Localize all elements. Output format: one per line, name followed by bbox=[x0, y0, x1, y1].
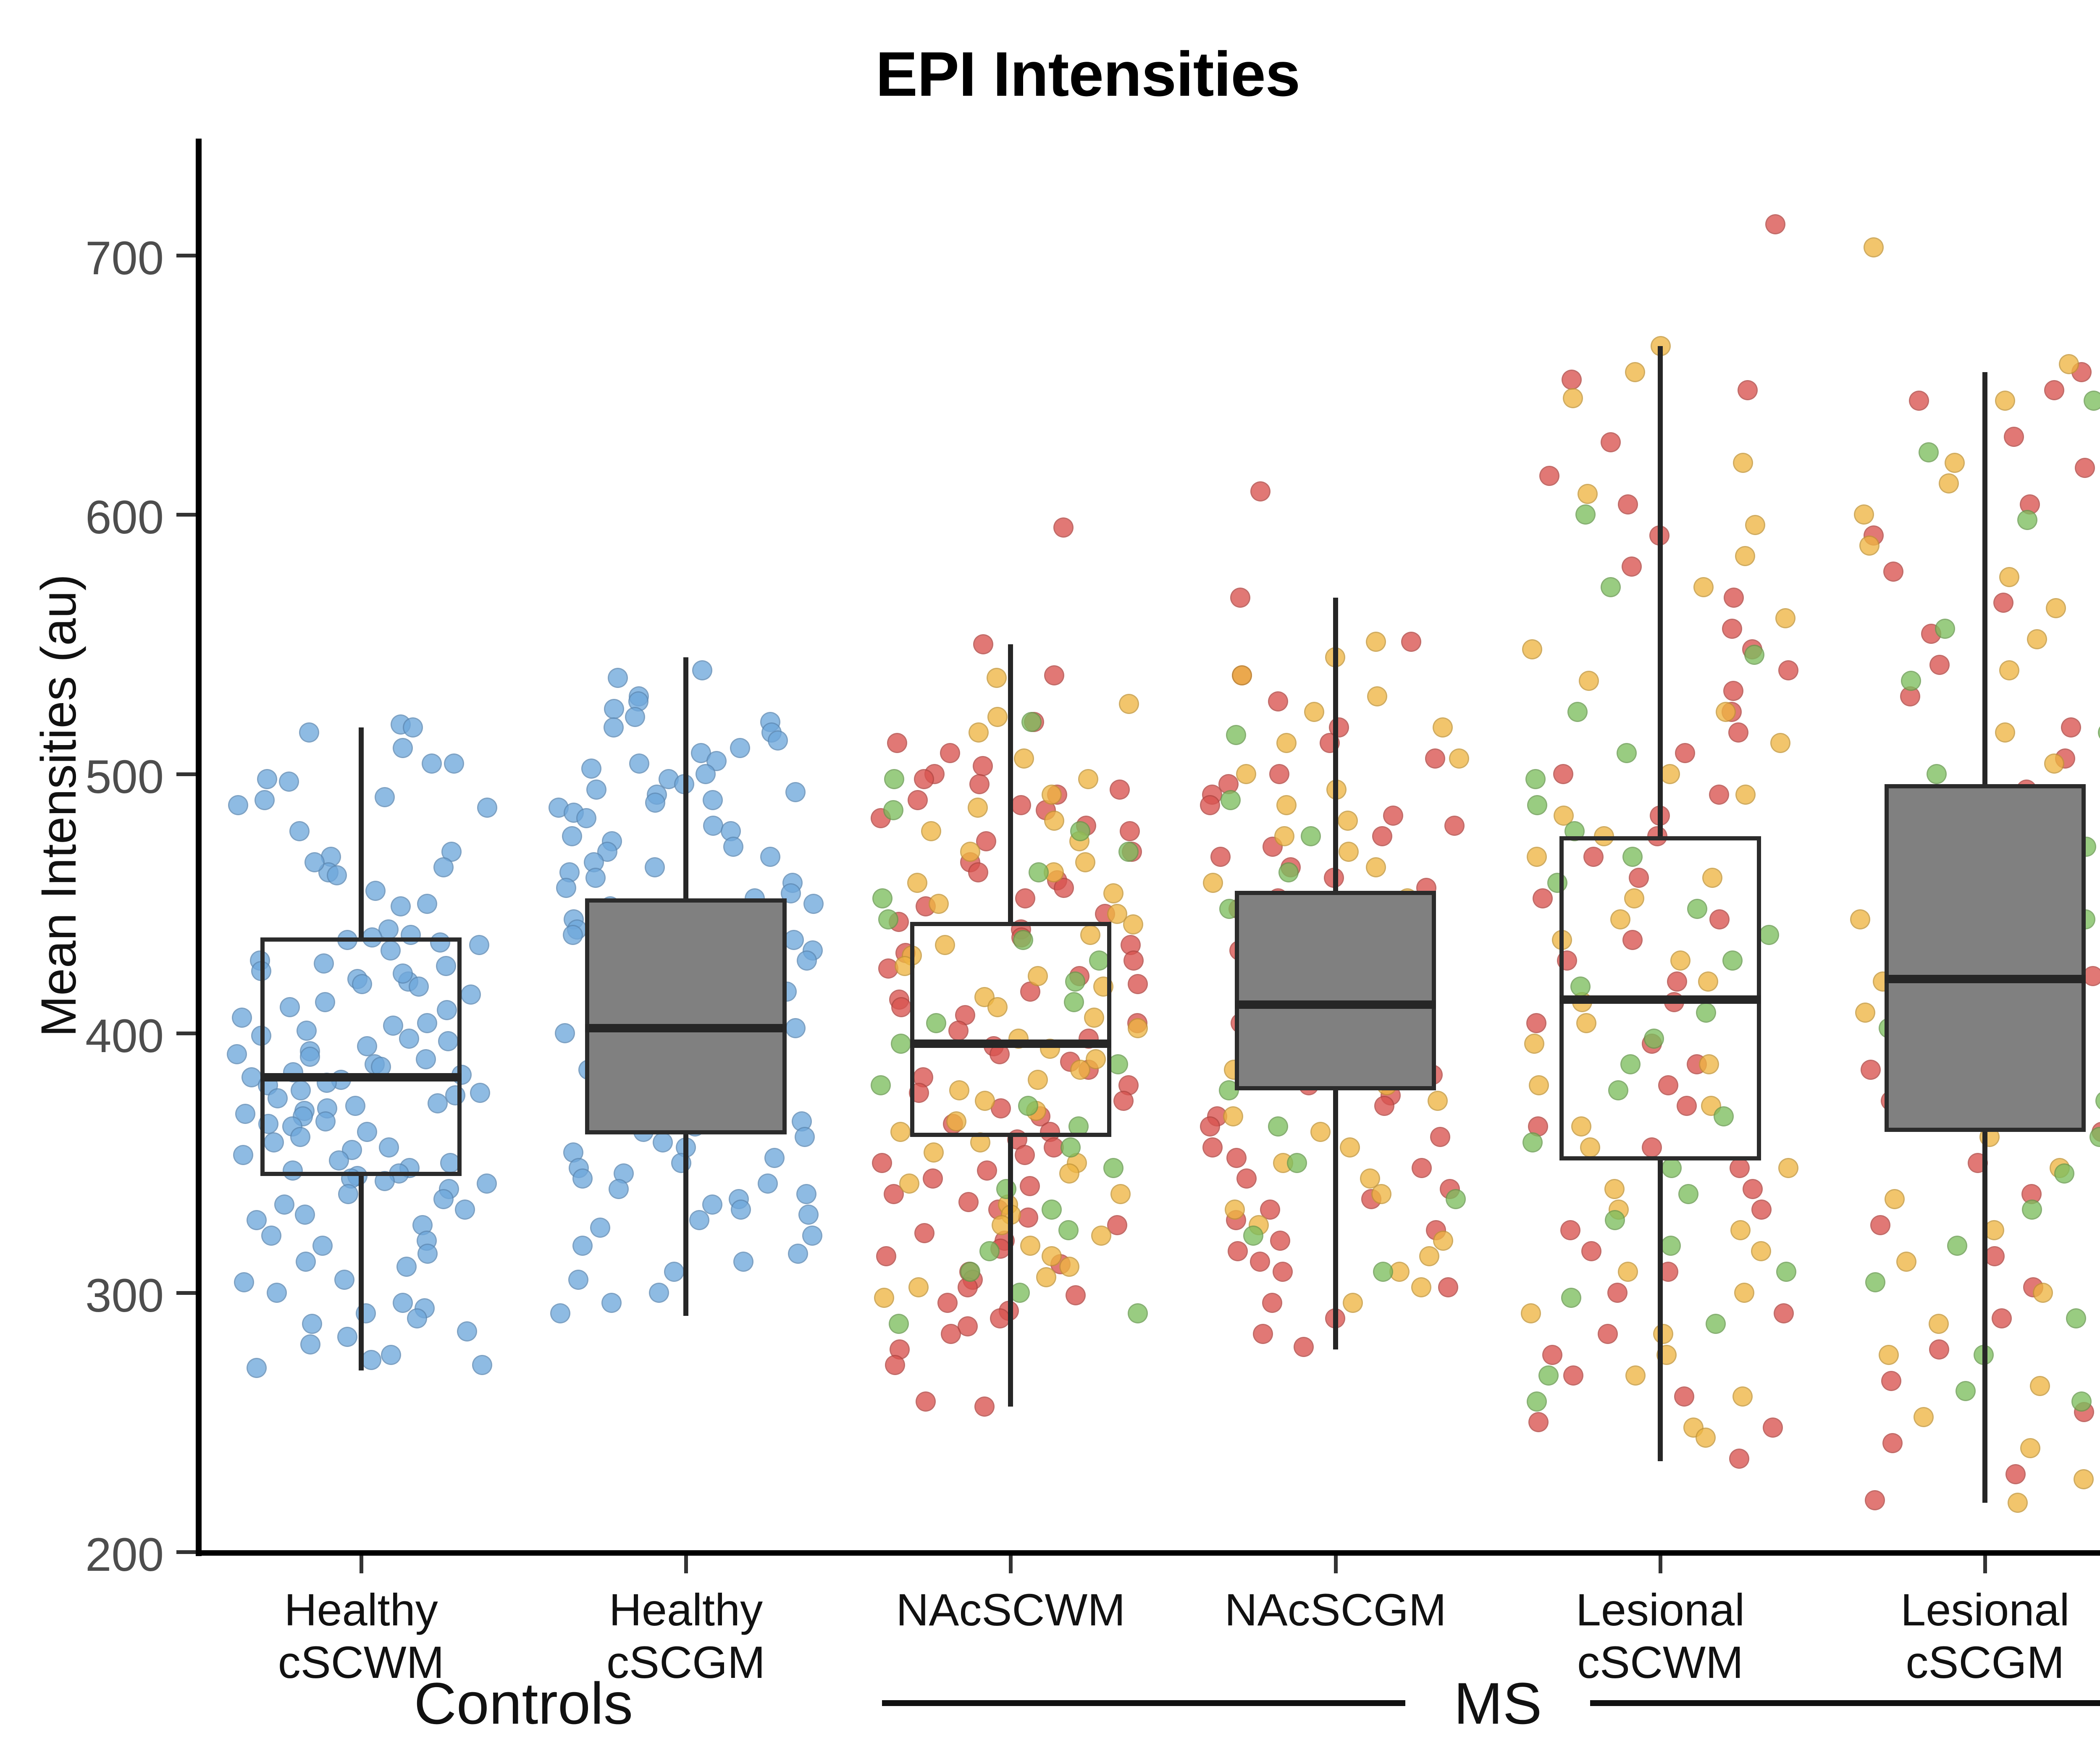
x-tick-mark bbox=[1009, 1556, 1013, 1573]
data-point bbox=[261, 1226, 281, 1246]
median-line bbox=[260, 1073, 462, 1081]
x-tick-mark bbox=[360, 1556, 363, 1573]
chart-title: EPI Intensities bbox=[0, 38, 2100, 110]
x-tick-mark bbox=[684, 1556, 688, 1573]
data-point bbox=[874, 1288, 894, 1308]
data-point bbox=[1850, 909, 1870, 929]
data-point bbox=[1774, 1303, 1794, 1323]
data-point bbox=[1879, 1345, 1899, 1365]
median-line bbox=[1235, 1000, 1436, 1009]
data-point bbox=[417, 1244, 438, 1264]
data-point bbox=[1374, 1096, 1394, 1116]
data-point bbox=[1304, 702, 1324, 722]
data-point bbox=[1765, 214, 1785, 234]
data-point bbox=[788, 1244, 808, 1264]
whisker-lower bbox=[1982, 1132, 1987, 1503]
data-point bbox=[1373, 1262, 1393, 1282]
data-point bbox=[1042, 1246, 1062, 1266]
data-point bbox=[2061, 717, 2081, 738]
data-point bbox=[563, 925, 583, 945]
data-point bbox=[1226, 1148, 1247, 1168]
data-point bbox=[1865, 1272, 1885, 1292]
data-point bbox=[299, 722, 319, 743]
data-point bbox=[1776, 1262, 1796, 1282]
data-point bbox=[645, 793, 665, 813]
data-point bbox=[1995, 722, 2015, 743]
data-point bbox=[2005, 1464, 2026, 1484]
data-point bbox=[586, 780, 606, 800]
whisker-upper bbox=[1333, 598, 1338, 891]
data-point bbox=[1581, 1241, 1601, 1261]
data-point bbox=[1901, 671, 1921, 691]
data-point bbox=[1401, 632, 1421, 652]
data-point bbox=[1778, 1158, 1798, 1178]
data-point bbox=[568, 1270, 588, 1290]
data-point bbox=[1914, 1407, 1934, 1427]
data-point bbox=[1525, 769, 1546, 789]
data-point bbox=[1059, 1163, 1079, 1184]
data-point bbox=[289, 821, 310, 841]
data-point bbox=[1020, 1176, 1040, 1196]
data-point bbox=[1118, 842, 1139, 862]
data-point bbox=[1113, 1091, 1134, 1111]
data-point bbox=[1607, 1283, 1627, 1303]
data-point bbox=[1617, 743, 1637, 763]
data-point bbox=[1042, 785, 1062, 805]
data-point bbox=[1744, 645, 1764, 665]
data-point bbox=[1956, 1381, 1976, 1401]
median-line bbox=[1885, 975, 2086, 983]
data-point bbox=[968, 798, 988, 818]
data-point bbox=[1366, 857, 1386, 877]
data-point bbox=[1855, 1003, 1875, 1023]
x-tick-mark bbox=[1983, 1556, 1987, 1573]
data-point bbox=[1885, 1189, 1905, 1209]
data-point bbox=[2074, 1469, 2094, 1489]
data-point bbox=[872, 888, 892, 908]
data-point bbox=[585, 868, 606, 888]
data-point bbox=[477, 798, 497, 818]
data-point bbox=[556, 878, 576, 898]
data-point bbox=[941, 1324, 961, 1344]
data-point bbox=[1745, 515, 1765, 535]
data-point bbox=[1066, 1285, 1086, 1305]
strip-rule-left bbox=[882, 1700, 1406, 1706]
data-point bbox=[908, 790, 928, 810]
data-point bbox=[653, 1132, 673, 1152]
data-point bbox=[403, 717, 423, 738]
data-point bbox=[1706, 1314, 1726, 1334]
data-point bbox=[764, 1148, 785, 1168]
data-point bbox=[1763, 1417, 1783, 1438]
data-point bbox=[1693, 577, 1714, 597]
data-point bbox=[629, 753, 649, 774]
data-point bbox=[768, 730, 788, 751]
data-point bbox=[1123, 950, 1144, 971]
data-point bbox=[555, 1023, 575, 1043]
data-point bbox=[1310, 1122, 1331, 1142]
data-point bbox=[625, 707, 645, 727]
data-point bbox=[1091, 1226, 1111, 1246]
data-point bbox=[1625, 362, 1645, 382]
x-tick-label: Lesional cSCGM bbox=[1823, 1583, 2100, 1688]
data-point bbox=[973, 756, 993, 776]
y-tick-mark bbox=[176, 254, 196, 257]
data-point bbox=[871, 1075, 891, 1095]
box-cscgm bbox=[1235, 891, 1436, 1090]
data-point bbox=[1538, 1365, 1559, 1386]
data-point bbox=[304, 852, 325, 872]
data-point bbox=[1896, 1252, 1916, 1272]
data-point bbox=[1226, 725, 1246, 745]
data-point bbox=[1250, 1252, 1270, 1272]
data-point bbox=[312, 1236, 333, 1256]
data-point bbox=[974, 1396, 995, 1417]
data-point bbox=[1601, 432, 1621, 452]
data-point bbox=[1527, 795, 1547, 815]
data-point bbox=[1539, 466, 1559, 486]
data-point bbox=[1929, 1314, 1949, 1334]
data-point bbox=[1939, 473, 1959, 493]
y-tick-mark bbox=[176, 1032, 196, 1035]
data-point bbox=[1521, 1303, 1541, 1323]
whisker-lower bbox=[683, 1134, 688, 1316]
data-point bbox=[1419, 1246, 1439, 1266]
data-point bbox=[257, 769, 277, 789]
data-point bbox=[1128, 1018, 1148, 1038]
y-tick-label: 700 bbox=[25, 231, 164, 285]
data-point bbox=[1243, 1226, 1263, 1246]
data-point bbox=[649, 1283, 669, 1303]
data-point bbox=[1273, 1262, 1293, 1282]
data-point bbox=[1262, 1293, 1282, 1313]
data-point bbox=[1236, 764, 1256, 784]
data-point bbox=[1553, 764, 1573, 784]
data-point bbox=[1343, 1293, 1363, 1313]
chart-root: EPI Intensities Mean Intensities (au) 70… bbox=[0, 0, 2100, 1764]
data-point bbox=[883, 800, 903, 820]
data-point bbox=[1228, 1241, 1248, 1261]
data-point bbox=[1110, 1184, 1131, 1204]
data-point bbox=[1743, 1179, 1763, 1199]
x-tick-label: NAcSCWM bbox=[848, 1583, 1173, 1636]
data-point bbox=[1287, 1153, 1307, 1173]
data-point bbox=[1732, 1386, 1753, 1407]
whisker-upper bbox=[1658, 346, 1663, 836]
data-point bbox=[1529, 1075, 1549, 1095]
data-point bbox=[1449, 748, 1469, 769]
data-point bbox=[1340, 1137, 1360, 1158]
data-point bbox=[2084, 391, 2100, 411]
data-point bbox=[1301, 826, 1321, 846]
data-point bbox=[1060, 1137, 1081, 1158]
data-point bbox=[1861, 1060, 1881, 1080]
data-point bbox=[1366, 632, 1386, 652]
data-point bbox=[1723, 681, 1743, 701]
strip-label-controls: Controls bbox=[199, 1669, 848, 1738]
data-point bbox=[407, 1308, 427, 1328]
data-point bbox=[1524, 1034, 1544, 1054]
y-tick-mark bbox=[176, 1291, 196, 1295]
x-axis-line bbox=[196, 1550, 2100, 1556]
data-point bbox=[1881, 1371, 1901, 1391]
data-point bbox=[327, 865, 347, 885]
data-point bbox=[692, 660, 712, 680]
data-point bbox=[444, 753, 464, 774]
data-point bbox=[1751, 1241, 1771, 1261]
data-point bbox=[979, 1241, 1000, 1261]
data-point bbox=[1075, 852, 1095, 872]
data-point bbox=[1070, 821, 1090, 841]
data-point bbox=[1625, 1365, 1646, 1386]
data-point bbox=[921, 821, 941, 841]
box-cscgm bbox=[1885, 784, 2086, 1131]
data-point bbox=[274, 1194, 294, 1215]
data-point bbox=[703, 790, 723, 810]
y-tick-mark bbox=[176, 513, 196, 517]
data-point bbox=[987, 668, 1007, 688]
data-point bbox=[1036, 1267, 1056, 1287]
data-point bbox=[255, 790, 275, 810]
data-point bbox=[1367, 686, 1387, 706]
data-point bbox=[1123, 914, 1143, 934]
data-point bbox=[1865, 1490, 1885, 1510]
data-point bbox=[1042, 1200, 1062, 1220]
data-point bbox=[969, 774, 990, 794]
data-point bbox=[1733, 453, 1753, 473]
data-point bbox=[469, 935, 489, 955]
data-point bbox=[2054, 1163, 2074, 1184]
whisker-upper bbox=[1008, 644, 1013, 922]
data-point bbox=[1618, 494, 1638, 514]
data-point bbox=[1425, 748, 1445, 769]
data-point bbox=[1883, 562, 1903, 582]
data-point bbox=[996, 1179, 1016, 1199]
y-tick-label: 500 bbox=[25, 750, 164, 804]
box-cscgm bbox=[585, 898, 786, 1134]
data-point bbox=[1770, 733, 1790, 753]
data-point bbox=[1522, 1132, 1543, 1152]
data-point bbox=[1015, 888, 1035, 908]
data-point bbox=[803, 894, 824, 914]
data-point bbox=[233, 1145, 253, 1165]
data-point bbox=[733, 1252, 753, 1272]
data-point bbox=[969, 722, 989, 743]
y-tick-mark bbox=[176, 1550, 196, 1554]
data-point bbox=[785, 1018, 806, 1038]
data-point bbox=[1778, 660, 1798, 680]
median-line bbox=[1559, 995, 1761, 1004]
data-point bbox=[2044, 753, 2064, 774]
data-point bbox=[1383, 806, 1403, 826]
data-point bbox=[1433, 1231, 1453, 1251]
data-point bbox=[228, 795, 248, 815]
data-point bbox=[1578, 484, 1598, 504]
data-point bbox=[1268, 691, 1288, 711]
data-point bbox=[1729, 1449, 1749, 1469]
data-point bbox=[887, 733, 907, 753]
data-point bbox=[987, 707, 1008, 727]
median-line bbox=[585, 1024, 786, 1032]
data-point bbox=[1223, 1106, 1243, 1126]
y-axis-label: Mean Intensities (au) bbox=[30, 260, 87, 1352]
data-point bbox=[796, 1184, 816, 1204]
data-point bbox=[422, 753, 442, 774]
whisker-lower bbox=[1333, 1090, 1338, 1349]
whisker-lower bbox=[359, 1176, 364, 1370]
data-point bbox=[334, 1270, 354, 1290]
data-point bbox=[576, 808, 596, 828]
data-point bbox=[232, 1008, 252, 1028]
data-point bbox=[562, 826, 582, 846]
data-point bbox=[235, 1104, 255, 1124]
data-point bbox=[1527, 1391, 1547, 1412]
x-tick-label: NAcSCGM bbox=[1173, 1583, 1498, 1636]
data-point bbox=[878, 909, 898, 929]
data-point bbox=[295, 1205, 315, 1225]
data-point bbox=[1021, 712, 1042, 732]
strip-label-ms: MS bbox=[1414, 1669, 1582, 1738]
data-point bbox=[234, 1272, 254, 1292]
data-point bbox=[689, 1210, 709, 1230]
y-tick-label: 300 bbox=[25, 1268, 164, 1323]
data-point bbox=[1528, 1412, 1549, 1432]
data-point bbox=[2008, 1493, 2028, 1513]
data-point bbox=[916, 1391, 936, 1412]
data-point bbox=[802, 1226, 822, 1246]
data-point bbox=[890, 1122, 911, 1142]
data-point bbox=[1110, 780, 1130, 800]
data-point bbox=[1579, 671, 1599, 691]
data-point bbox=[609, 1179, 629, 1199]
data-point bbox=[730, 738, 750, 758]
data-point bbox=[1412, 1158, 1432, 1178]
data-point bbox=[296, 1252, 316, 1272]
data-point bbox=[889, 1314, 909, 1334]
data-point bbox=[1567, 702, 1588, 722]
data-point bbox=[1044, 665, 1064, 685]
data-point bbox=[1236, 1168, 1257, 1189]
data-point bbox=[1604, 1179, 1625, 1199]
data-point bbox=[1018, 1207, 1038, 1228]
data-point bbox=[461, 984, 481, 1005]
data-point bbox=[1724, 588, 1744, 608]
box-cscwm bbox=[260, 937, 462, 1176]
data-point bbox=[1225, 1200, 1245, 1220]
data-point bbox=[1735, 546, 1755, 566]
data-point bbox=[1678, 1184, 1698, 1204]
data-point bbox=[227, 1044, 247, 1064]
data-point bbox=[247, 1210, 267, 1230]
data-point bbox=[702, 1194, 722, 1215]
data-point bbox=[2017, 510, 2037, 530]
data-point bbox=[581, 759, 601, 779]
data-point bbox=[1433, 717, 1453, 738]
data-point bbox=[1561, 1288, 1581, 1308]
x-tick-mark bbox=[1659, 1556, 1662, 1573]
data-point bbox=[375, 787, 395, 807]
data-point bbox=[1992, 1308, 2012, 1328]
data-point bbox=[1527, 847, 1547, 867]
data-point bbox=[604, 717, 624, 738]
data-point bbox=[1909, 391, 1929, 411]
data-point bbox=[1103, 1158, 1123, 1178]
data-point bbox=[1128, 974, 1148, 994]
data-point bbox=[1935, 619, 1955, 639]
data-point bbox=[1059, 1257, 1079, 1277]
data-point bbox=[1274, 826, 1294, 846]
data-point bbox=[960, 1262, 980, 1282]
data-point bbox=[393, 738, 413, 758]
data-point bbox=[1011, 795, 1031, 815]
data-point bbox=[572, 1168, 593, 1189]
data-point bbox=[1230, 588, 1250, 608]
data-point bbox=[365, 881, 386, 901]
data-point bbox=[1029, 862, 1049, 882]
data-point bbox=[279, 772, 299, 792]
data-point bbox=[1882, 1433, 1903, 1453]
data-point bbox=[302, 1314, 322, 1334]
data-point bbox=[396, 1257, 417, 1277]
data-point bbox=[1203, 873, 1223, 893]
data-point bbox=[2020, 1438, 2040, 1458]
data-point bbox=[391, 896, 411, 916]
whisker-upper bbox=[1982, 372, 1987, 785]
data-point bbox=[1618, 1262, 1638, 1282]
data-point bbox=[1563, 388, 1583, 408]
median-line bbox=[910, 1039, 1111, 1048]
data-point bbox=[477, 1173, 497, 1194]
data-point bbox=[731, 1200, 751, 1220]
data-point bbox=[1276, 733, 1297, 753]
data-point bbox=[1446, 1189, 1466, 1209]
whisker-upper bbox=[359, 727, 364, 937]
data-point bbox=[1444, 816, 1465, 836]
data-point bbox=[1945, 453, 1965, 473]
data-point bbox=[247, 1358, 267, 1378]
data-point bbox=[1044, 811, 1064, 831]
data-point bbox=[1870, 1215, 1890, 1235]
data-point bbox=[1430, 1127, 1450, 1147]
data-point bbox=[1269, 764, 1289, 784]
data-point bbox=[1202, 1137, 1223, 1158]
data-point bbox=[1200, 795, 1220, 815]
plot-panel bbox=[199, 139, 2100, 1552]
data-point bbox=[1601, 577, 1621, 597]
whisker-lower bbox=[1658, 1160, 1663, 1461]
data-point bbox=[1738, 380, 1758, 400]
data-point bbox=[417, 894, 437, 914]
data-point bbox=[1250, 481, 1270, 501]
data-point bbox=[337, 1327, 357, 1347]
y-tick-label: 400 bbox=[25, 1009, 164, 1063]
box-cscwm bbox=[910, 922, 1111, 1137]
x-tick-mark bbox=[1334, 1556, 1338, 1573]
data-point bbox=[1438, 1277, 1458, 1297]
data-point bbox=[1674, 1386, 1694, 1407]
data-point bbox=[872, 1153, 892, 1173]
data-point bbox=[2004, 427, 2024, 447]
whisker-lower bbox=[1008, 1137, 1013, 1407]
data-point bbox=[1533, 888, 1553, 908]
data-point bbox=[2027, 629, 2047, 649]
data-point bbox=[908, 1277, 929, 1297]
data-point bbox=[381, 1345, 401, 1365]
data-point bbox=[923, 1168, 943, 1189]
data-point bbox=[2046, 598, 2066, 618]
data-point bbox=[723, 837, 743, 857]
data-point bbox=[2044, 380, 2064, 400]
